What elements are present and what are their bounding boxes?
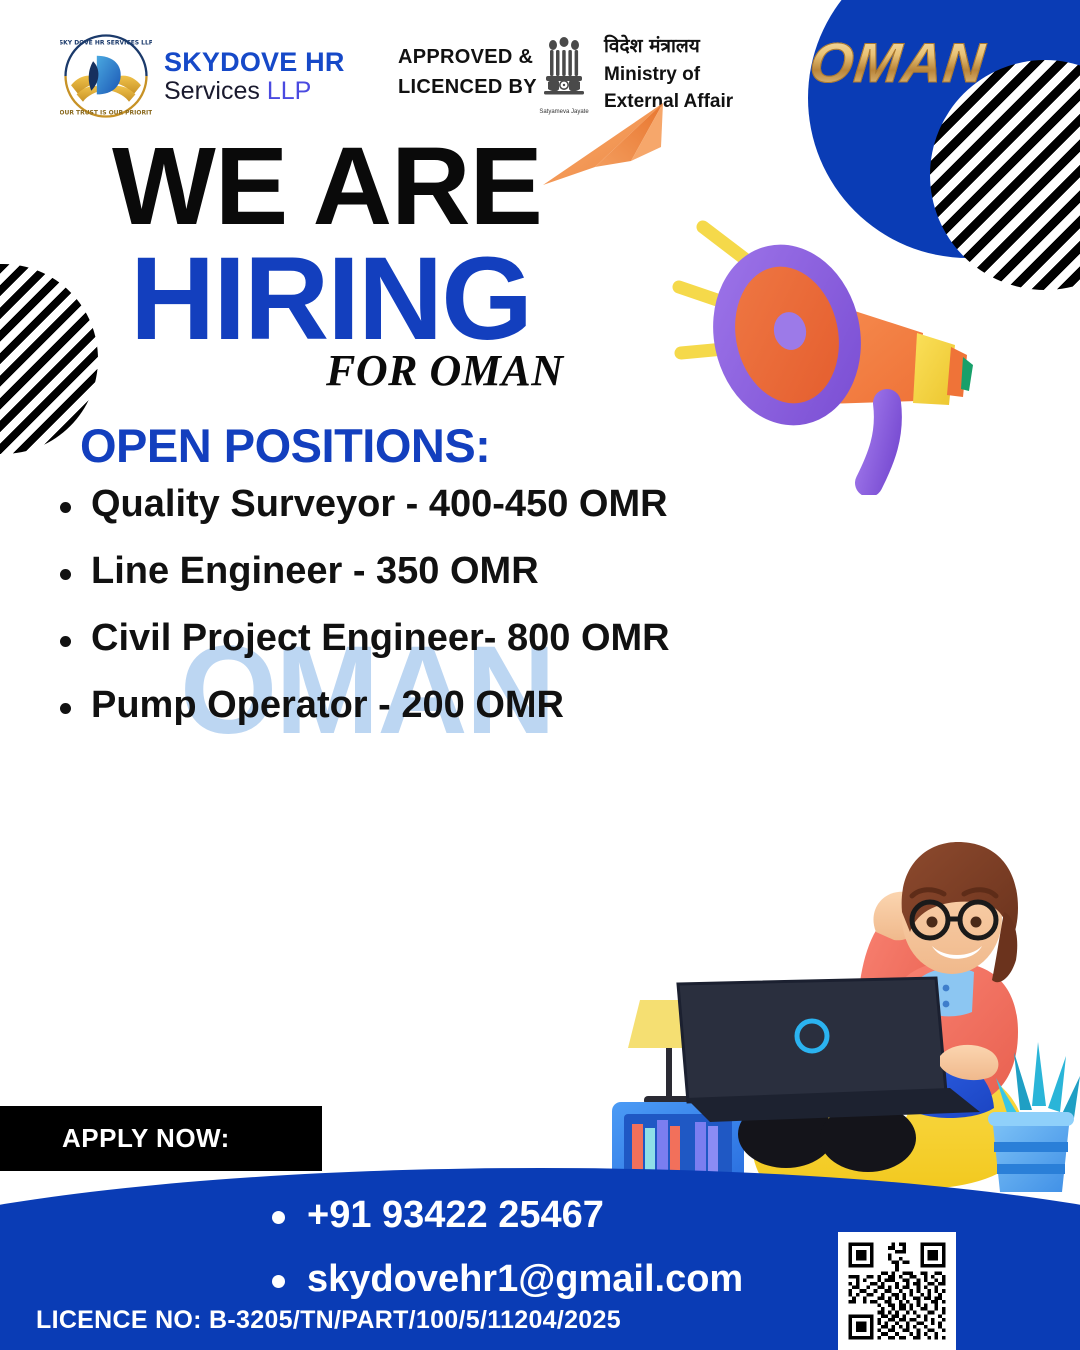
megaphone-icon <box>655 205 1000 495</box>
brand-name: SKYDOVE HR Services LLP <box>164 47 345 105</box>
bullet-icon <box>60 703 71 714</box>
bullet-icon <box>60 502 71 513</box>
bullet-icon <box>272 1275 285 1288</box>
svg-text:YOUR TRUST IS OUR PRIORITY: YOUR TRUST IS OUR PRIORITY <box>60 110 152 117</box>
svg-text:SKY DOVE HR SERVICES LLP: SKY DOVE HR SERVICES LLP <box>60 40 152 47</box>
list-item: Civil Project Engineer- 800 OMR <box>60 619 670 657</box>
licence-number: LICENCE NO: B-3205/TN/PART/100/5/11204/2… <box>36 1306 621 1335</box>
bullet-icon <box>272 1211 285 1224</box>
paper-plane-icon <box>535 95 675 200</box>
apply-now-banner: APPLY NOW: <box>0 1106 322 1171</box>
contact-list: +91 93422 25467 skydovehr1@gmail.com <box>272 1196 743 1324</box>
headline-we-are: WE ARE <box>112 132 542 242</box>
position-label: Civil Project Engineer- 800 OMR <box>91 619 670 657</box>
approved-line-2: LICENCED BY <box>398 72 537 102</box>
contact-phone[interactable]: +91 93422 25467 <box>307 1196 604 1234</box>
list-item: Pump Operator - 200 OMR <box>60 686 670 724</box>
bullet-icon <box>60 636 71 647</box>
open-positions-heading: OPEN POSITIONS: <box>80 418 490 473</box>
approved-licenced-text: APPROVED & LICENCED BY <box>398 42 537 102</box>
position-label: Quality Surveyor - 400-450 OMR <box>91 485 668 523</box>
brand-logo-block: SKY DOVE HR SERVICES LLP YOUR TRUST IS O… <box>60 30 345 122</box>
skydove-wings-logo-icon: SKY DOVE HR SERVICES LLP YOUR TRUST IS O… <box>60 30 152 122</box>
approved-line-1: APPROVED & <box>398 42 537 72</box>
ministry-line-1: Ministry of <box>604 61 733 89</box>
apply-now-label: APPLY NOW: <box>62 1123 230 1154</box>
qr-code-icon[interactable] <box>838 1232 956 1350</box>
brand-name-primary: SKYDOVE HR <box>164 47 345 77</box>
position-label: Line Engineer - 350 OMR <box>91 552 539 590</box>
ministry-hindi: विदेश मंत्रालय <box>604 33 733 61</box>
contact-email[interactable]: skydovehr1@gmail.com <box>307 1260 743 1298</box>
list-item[interactable]: +91 93422 25467 <box>272 1196 743 1234</box>
brand-llp: LLP <box>267 77 311 105</box>
list-item: Line Engineer - 350 OMR <box>60 552 670 590</box>
list-item[interactable]: skydovehr1@gmail.com <box>272 1260 743 1298</box>
oman-gold-badge: OMAN <box>807 30 989 95</box>
list-item: Quality Surveyor - 400-450 OMR <box>60 485 670 523</box>
headline-for-oman: FOR OMAN <box>326 345 564 396</box>
headline-hiring: HIRING <box>130 240 531 358</box>
brand-name-secondary: Services LLP <box>164 77 345 105</box>
bullet-icon <box>60 569 71 580</box>
hiring-poster: SKY DOVE HR SERVICES LLP YOUR TRUST IS O… <box>0 0 1080 1350</box>
open-positions-list: Quality Surveyor - 400-450 OMR Line Engi… <box>60 485 670 753</box>
position-label: Pump Operator - 200 OMR <box>91 686 564 724</box>
